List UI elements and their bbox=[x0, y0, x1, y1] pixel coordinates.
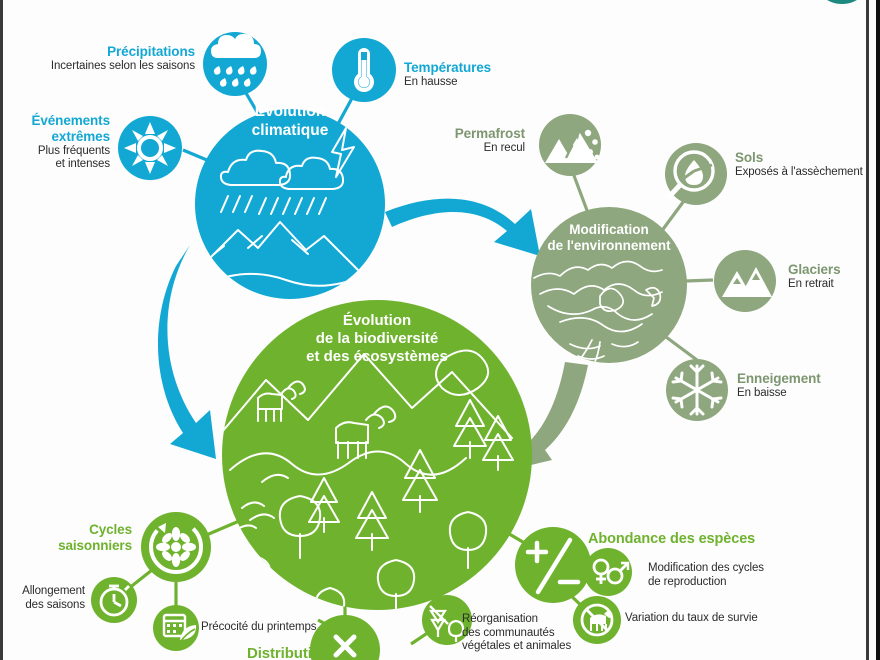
label-reorganisation-line2: des communautés bbox=[462, 627, 622, 641]
arrow-climate-to-biodiversity bbox=[158, 245, 216, 459]
hub-environment[interactable] bbox=[531, 207, 687, 364]
label-cycles-saisonniers-title-line1: Cycles bbox=[20, 522, 132, 538]
label-cycles-reproduction: Modification des cycles de reproduction bbox=[648, 562, 863, 589]
satellite-cycles-reproduction[interactable] bbox=[584, 548, 632, 596]
satellite-temperatures[interactable] bbox=[332, 38, 396, 102]
satellite-cycles-saisonniers[interactable] bbox=[141, 512, 212, 583]
label-abondance-des-especes: Abondance des espèces bbox=[588, 531, 848, 548]
satellite-glaciers[interactable] bbox=[714, 250, 776, 312]
label-evenements-extremes: Événements extrêmes Plus fréquents et in… bbox=[6, 113, 110, 172]
label-evenements-extremes-subtitle-line2: et intenses bbox=[6, 158, 110, 172]
label-reorganisation-line1: Réorganisation bbox=[462, 613, 622, 627]
label-precocite-du-printemps-text: Précocité du printemps bbox=[201, 621, 381, 635]
label-sols-title: Sols bbox=[735, 150, 880, 166]
label-glaciers-title: Glaciers bbox=[788, 262, 878, 278]
label-cycles-saisonniers: Cycles saisonniers bbox=[20, 522, 132, 554]
label-reorganisation-line3: végétales et animales bbox=[462, 640, 622, 654]
satellite-enneigement[interactable] bbox=[666, 359, 728, 421]
satellite-allongement-des-saisons[interactable] bbox=[91, 577, 137, 623]
label-sols: Sols Exposés à l'assèchement bbox=[735, 150, 880, 179]
satellite-precipitations[interactable] bbox=[203, 32, 267, 96]
page-edge-right bbox=[876, 0, 880, 660]
satellite-sols[interactable] bbox=[665, 143, 727, 205]
page-border-right bbox=[866, 0, 869, 660]
satellite-precocite-du-printemps[interactable] bbox=[153, 605, 199, 651]
arrow-climate-to-environment bbox=[385, 199, 540, 256]
label-allongement-des-saisons-line2: des saisons bbox=[0, 599, 85, 613]
label-temperatures-subtitle: En hausse bbox=[404, 76, 584, 90]
infographic-page: Évolution climatique Modification de l'e… bbox=[0, 0, 880, 660]
label-evenements-extremes-title-line2: extrêmes bbox=[6, 129, 110, 145]
label-precipitations-title: Précipitations bbox=[20, 44, 195, 60]
label-cycles-saisonniers-title-line2: saisonniers bbox=[20, 538, 132, 554]
label-permafrost-subtitle: En recul bbox=[385, 142, 525, 156]
label-permafrost: Permafrost En recul bbox=[385, 126, 525, 155]
label-cycles-reproduction-line1: Modification des cycles bbox=[648, 562, 863, 576]
hub-biodiversity[interactable] bbox=[222, 300, 532, 634]
hub-climate[interactable] bbox=[195, 109, 385, 299]
satellite-evenements-extremes[interactable] bbox=[118, 116, 182, 180]
label-distribution: Distribution bbox=[247, 645, 397, 660]
label-evenements-extremes-subtitle-line1: Plus fréquents bbox=[6, 145, 110, 159]
page-border-left bbox=[0, 0, 3, 660]
label-precocite-du-printemps: Précocité du printemps bbox=[201, 621, 381, 635]
satellite-abondance-des-especes[interactable] bbox=[515, 527, 591, 603]
label-taux-de-survie-text: Variation du taux de survie bbox=[625, 612, 855, 626]
label-evenements-extremes-title-line1: Événements bbox=[6, 113, 110, 129]
label-allongement-des-saisons: Allongement des saisons bbox=[0, 585, 85, 612]
label-reorganisation: Réorganisation des communautés végétales… bbox=[462, 613, 622, 654]
label-sols-subtitle: Exposés à l'assèchement bbox=[735, 166, 880, 180]
label-cycles-reproduction-line2: de reproduction bbox=[648, 576, 863, 590]
label-enneigement-title: Enneigement bbox=[737, 371, 877, 387]
label-taux-de-survie: Variation du taux de survie bbox=[625, 612, 855, 626]
diagram-canvas bbox=[0, 0, 880, 660]
label-glaciers: Glaciers En retrait bbox=[788, 262, 878, 291]
label-precipitations: Précipitations Incertaines selon les sai… bbox=[20, 44, 195, 73]
label-allongement-des-saisons-line1: Allongement bbox=[0, 585, 85, 599]
satellite-permafrost[interactable] bbox=[539, 114, 601, 176]
label-enneigement-subtitle: En baisse bbox=[737, 387, 877, 401]
label-enneigement: Enneigement En baisse bbox=[737, 371, 877, 400]
label-abondance-des-especes-title: Abondance des espèces bbox=[588, 531, 848, 548]
label-permafrost-title: Permafrost bbox=[385, 126, 525, 142]
label-distribution-title: Distribution bbox=[247, 645, 397, 660]
label-temperatures: Températures En hausse bbox=[404, 60, 584, 89]
label-temperatures-title: Températures bbox=[404, 60, 584, 76]
label-glaciers-subtitle: En retrait bbox=[788, 278, 878, 292]
label-precipitations-subtitle: Incertaines selon les saisons bbox=[20, 60, 195, 74]
corner-teal-shape bbox=[812, 0, 872, 4]
